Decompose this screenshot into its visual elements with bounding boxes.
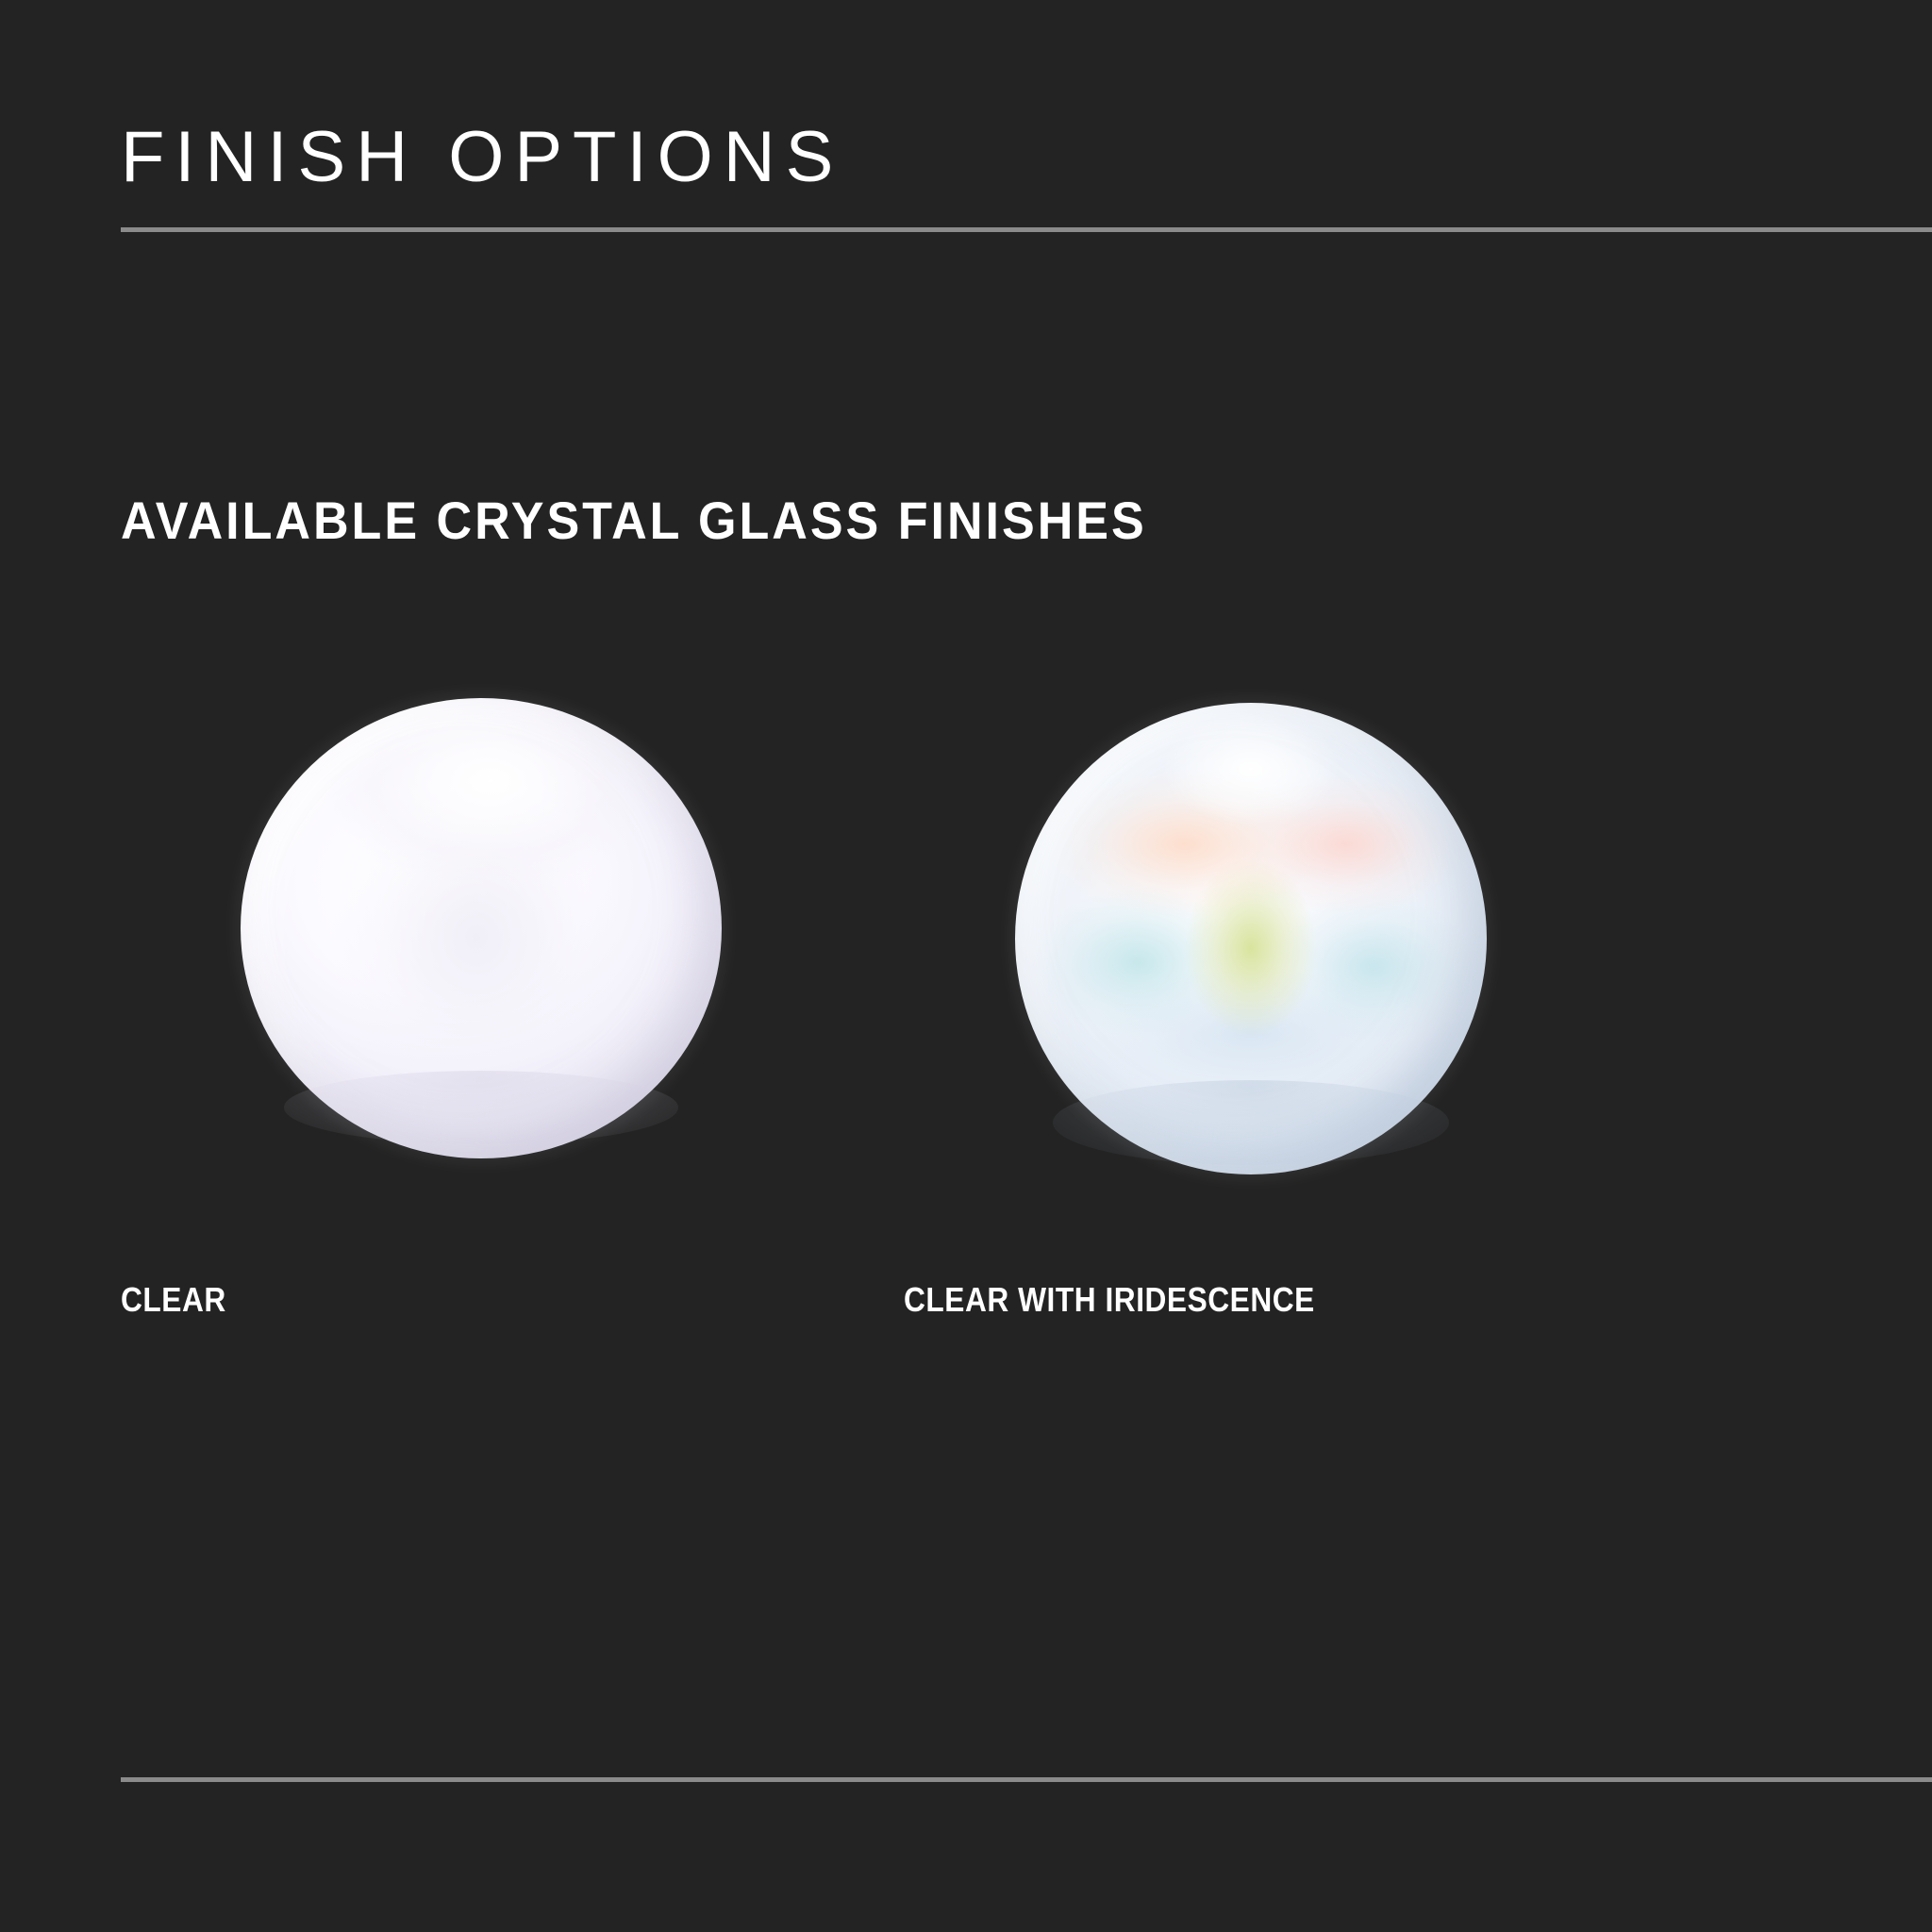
finish-option-clear[interactable]: CLEAR — [121, 660, 781, 1377]
finish-option-clear-with-iridescence[interactable]: CLEAR WITH IRIDESCENCE — [904, 660, 1564, 1377]
footer-divider — [121, 1777, 1932, 1782]
finish-swatch-image-iridescent — [904, 660, 1564, 1189]
finish-label-clear: CLEAR — [121, 1283, 226, 1317]
finish-swatch-image-clear — [121, 660, 781, 1189]
iridescent-glass-sphere-icon — [1015, 703, 1487, 1174]
finish-swatch-grid: CLEAR CLEAR WITH IRIDESCENCE — [121, 660, 1819, 1377]
finish-options-page: FINISH OPTIONS AVAILABLE CRYSTAL GLASS F… — [0, 0, 1932, 1932]
clear-glass-sphere-icon — [241, 698, 722, 1158]
header-divider — [121, 227, 1932, 232]
page-title: FINISH OPTIONS — [121, 122, 843, 193]
finish-label-clear-with-iridescence: CLEAR WITH IRIDESCENCE — [904, 1283, 1315, 1317]
section-heading: AVAILABLE CRYSTAL GLASS FINISHES — [121, 494, 1147, 547]
